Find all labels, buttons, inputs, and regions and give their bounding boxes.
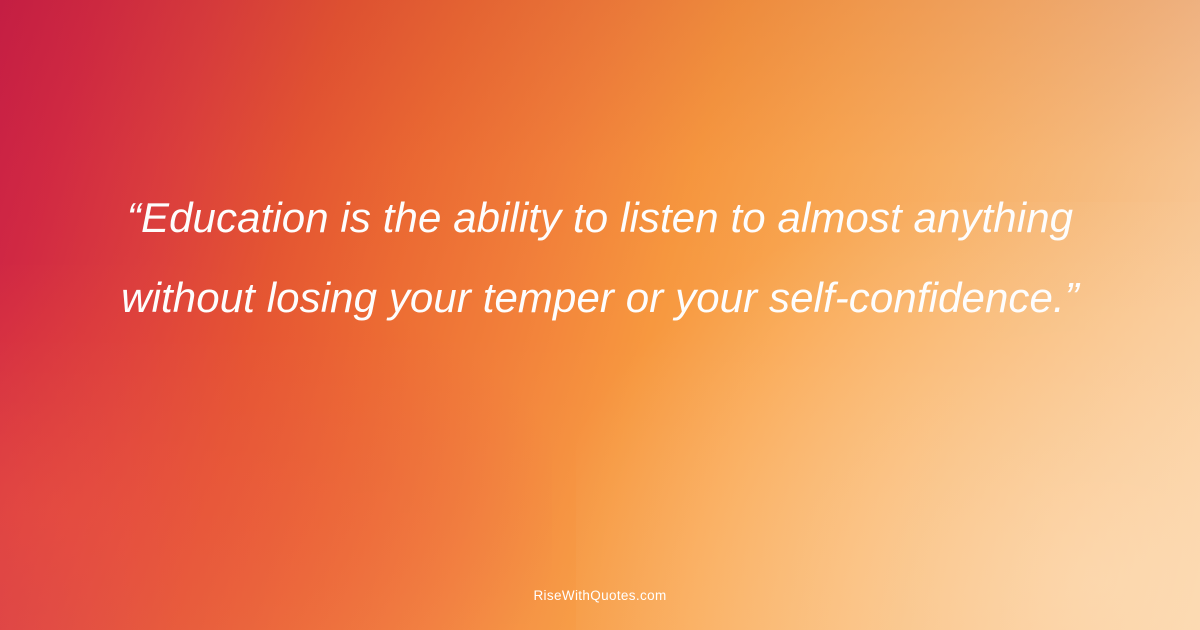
quote-text-block: “Education is the ability to listen to a…: [100, 178, 1100, 338]
quote-card: “Education is the ability to listen to a…: [0, 0, 1200, 630]
quote-line-2: without losing your temper or your self-…: [100, 258, 1100, 338]
quote-line-1: “Education is the ability to listen to a…: [100, 178, 1100, 258]
site-credit: RiseWithQuotes.com: [0, 588, 1200, 603]
